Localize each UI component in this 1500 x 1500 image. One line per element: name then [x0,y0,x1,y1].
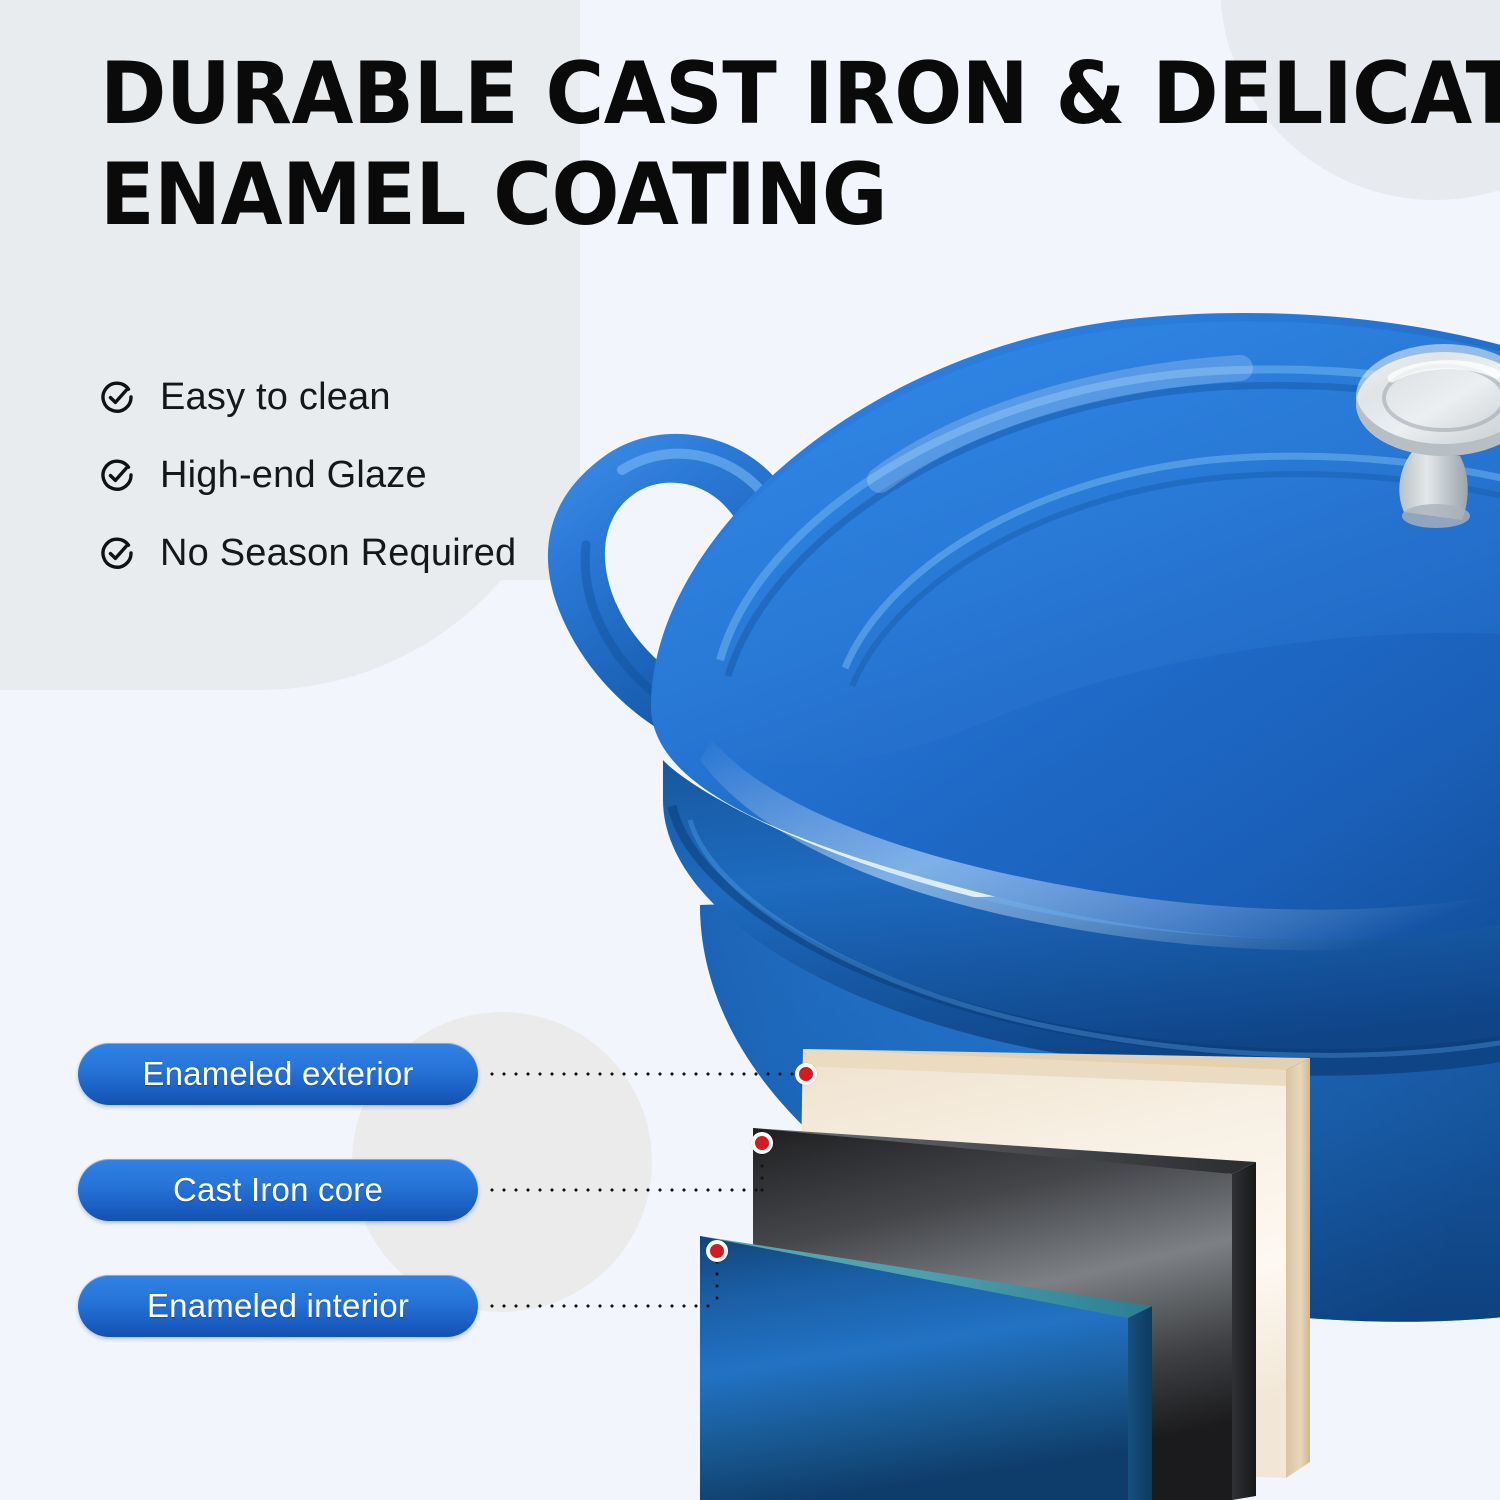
feature-item-easy-to-clean: Easy to clean [100,358,516,436]
check-circle-icon [100,536,134,570]
feature-item-no-season-required: No Season Required [100,514,516,592]
page-title: DURABLE CAST IRON & DELICATE ENAMEL COAT… [100,44,1365,247]
headline-line-2: ENAMEL COATING [100,145,1365,246]
callout-cast-iron-core[interactable]: Cast Iron core [78,1159,478,1221]
leader-line-core-horizontal [486,1187,763,1193]
marker-dot-interior [706,1240,728,1262]
feature-item-high-end-glaze: High-end Glaze [100,436,516,514]
callout-label-core: Cast Iron core [173,1171,383,1209]
product-infographic: Enameled exterior Cast Iron core Enamele… [0,0,1500,1500]
marker-dot-exterior [795,1063,817,1085]
callout-enameled-exterior[interactable]: Enameled exterior [78,1043,478,1105]
callout-enameled-interior[interactable]: Enameled interior [78,1275,478,1337]
feature-label-high-end-glaze: High-end Glaze [160,454,427,497]
feature-list: Easy to clean High-end Glaze No Season R… [100,358,516,592]
leader-line-exterior [486,1071,796,1077]
feature-label-easy-to-clean: Easy to clean [160,376,391,419]
leader-line-core-vertical [759,1148,765,1192]
leader-line-interior-vertical [714,1256,720,1308]
check-circle-icon [100,380,134,414]
headline-line-1: DURABLE CAST IRON & DELICATE [100,44,1365,145]
leader-line-interior-horizontal [486,1303,718,1309]
marker-dot-core [751,1132,773,1154]
feature-label-no-season-required: No Season Required [160,532,516,575]
check-circle-icon [100,458,134,492]
callout-label-interior: Enameled interior [147,1287,409,1325]
callout-label-exterior: Enameled exterior [142,1055,413,1093]
